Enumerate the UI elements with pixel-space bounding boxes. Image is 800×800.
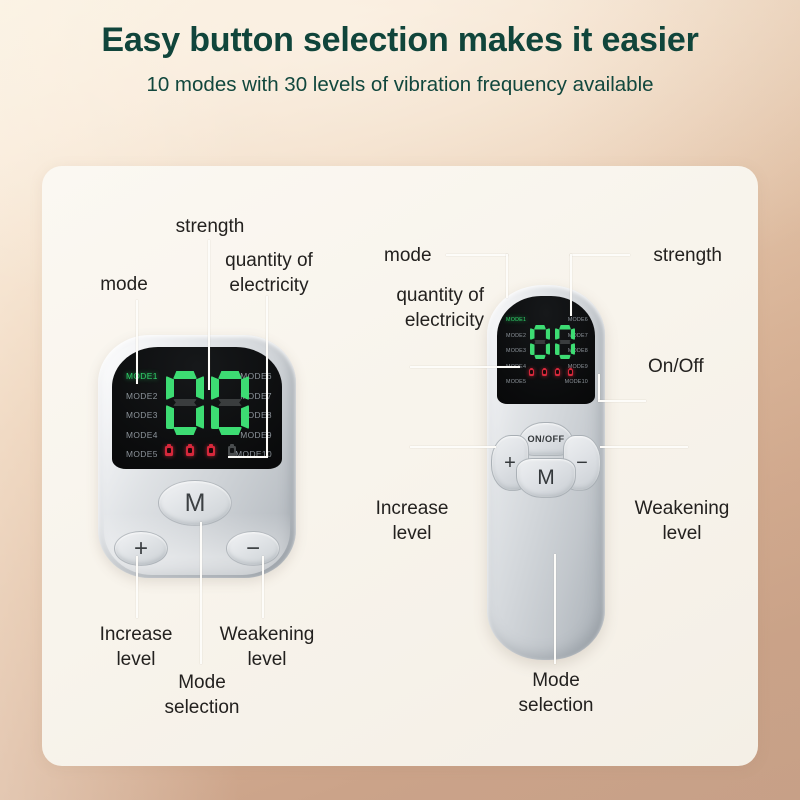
battery-indicator-row bbox=[165, 444, 236, 456]
leader-line-left-mode bbox=[136, 300, 138, 384]
callout-left-increase: Increase level bbox=[72, 622, 200, 672]
mode-item-2[interactable]: MODE2 bbox=[126, 387, 158, 407]
callout-right-strength: strength bbox=[582, 243, 722, 268]
callout-left-mode: mode bbox=[64, 272, 184, 297]
battery-cell-2 bbox=[542, 368, 547, 376]
leader-line-right-onoff-h bbox=[598, 400, 646, 402]
seven-segment-readout bbox=[530, 325, 575, 359]
leader-line-right-quantity-h bbox=[410, 366, 520, 368]
device-pill-remote-unit: MODE1 MODE2 MODE3 MODE4 MODE5 MODE6 MODE… bbox=[487, 285, 605, 660]
callout-right-weakening: Weakening level bbox=[604, 496, 758, 546]
battery-cell-1 bbox=[529, 368, 534, 376]
mode-list-left: MODE1 MODE2 MODE3 MODE4 MODE5 bbox=[506, 313, 526, 391]
page-subtitle: 10 modes with 30 levels of vibration fre… bbox=[0, 71, 800, 98]
leader-line-right-modesel-v bbox=[554, 554, 556, 664]
header: Easy button selection makes it easier 10… bbox=[0, 0, 800, 98]
battery-cell-3 bbox=[555, 368, 560, 376]
battery-cell-1 bbox=[165, 444, 173, 456]
callout-left-mode-selection: Mode selection bbox=[140, 670, 264, 720]
callout-right-mode: mode bbox=[384, 243, 494, 268]
battery-cell-2 bbox=[186, 444, 194, 456]
seven-segment-digit bbox=[211, 371, 249, 435]
device-display-screen: MODE1 MODE2 MODE3 MODE4 MODE5 MODE6 MODE… bbox=[497, 296, 595, 404]
callout-right-onoff: On/Off bbox=[648, 354, 758, 379]
battery-cell-3 bbox=[207, 444, 215, 456]
decrease-button[interactable]: − bbox=[226, 531, 280, 566]
mode-item-3[interactable]: MODE3 bbox=[126, 406, 158, 426]
increase-button[interactable]: + bbox=[114, 531, 168, 566]
leader-line-right-mode-v bbox=[506, 254, 508, 298]
mode-item-3[interactable]: MODE3 bbox=[506, 344, 526, 360]
seven-segment-digit bbox=[555, 325, 575, 359]
mode-item-10[interactable]: MODE10 bbox=[565, 375, 588, 391]
leader-line-right-weakening-h bbox=[600, 446, 688, 448]
leader-line-right-strength-v bbox=[570, 254, 572, 316]
callout-right-mode-selection: Mode selection bbox=[494, 668, 618, 718]
callout-left-quantity: quantity of electricity bbox=[194, 248, 344, 298]
callout-right-quantity: quantity of electricity bbox=[334, 283, 484, 333]
callout-left-strength: strength bbox=[140, 214, 280, 239]
leader-line-left-increase bbox=[136, 556, 138, 618]
battery-cell-4 bbox=[228, 444, 236, 456]
mode-item-4[interactable]: MODE4 bbox=[126, 426, 158, 446]
mode-item-1[interactable]: MODE1 bbox=[126, 367, 158, 387]
mode-item-5[interactable]: MODE5 bbox=[506, 375, 526, 391]
battery-cell-4 bbox=[568, 368, 573, 376]
leader-line-right-onoff-v bbox=[598, 374, 600, 402]
mode-button[interactable]: M bbox=[516, 458, 576, 498]
seven-segment-digit bbox=[530, 325, 550, 359]
seven-segment-digit bbox=[166, 371, 204, 435]
callout-left-weakening: Weakening level bbox=[194, 622, 340, 672]
page-title: Easy button selection makes it easier bbox=[0, 18, 800, 62]
leader-line-right-increase-h bbox=[410, 446, 496, 448]
battery-indicator-row bbox=[529, 368, 573, 376]
callout-right-increase: Increase level bbox=[342, 496, 482, 546]
mode-item-5[interactable]: MODE5 bbox=[126, 445, 158, 465]
mode-list-left: MODE1 MODE2 MODE3 MODE4 MODE5 bbox=[126, 367, 158, 465]
mode-button[interactable]: M bbox=[158, 480, 232, 526]
infographic-page: Easy button selection makes it easier 10… bbox=[0, 0, 800, 800]
mode-item-1[interactable]: MODE1 bbox=[506, 313, 526, 329]
leader-line-left-weakening bbox=[262, 556, 264, 618]
leader-line-left-quantity-h bbox=[228, 456, 268, 458]
mode-item-2[interactable]: MODE2 bbox=[506, 329, 526, 345]
leader-line-left-quantity-v bbox=[266, 296, 268, 458]
